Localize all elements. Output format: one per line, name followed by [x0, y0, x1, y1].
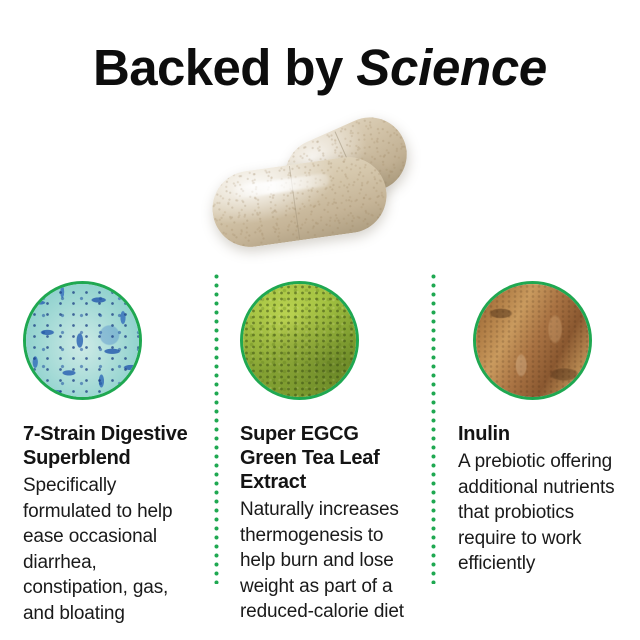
bacteria-micrograph-icon [23, 281, 142, 400]
ingredient-column-inulin: Inulin A prebiotic offering additional n… [458, 281, 630, 577]
green-tea-powder-icon [240, 281, 359, 400]
green-tea-powder-image [243, 284, 356, 397]
ingredient-heading: Super EGCG Green Tea Leaf Extract [240, 422, 420, 494]
ingredient-column-green-tea: Super EGCG Green Tea Leaf Extract Natura… [240, 281, 420, 625]
page-title-main: Backed by [93, 39, 356, 96]
bacteria-image [26, 284, 139, 397]
page-title-accent: Science [356, 39, 547, 96]
capsules-hero-image [195, 112, 445, 252]
capsule-front [208, 152, 392, 252]
ingredient-column-superblend: 7-Strain Digestive Superblend Specifical… [23, 281, 203, 626]
chicory-root-icon [473, 281, 592, 400]
ingredient-heading: 7-Strain Digestive Superblend [23, 422, 203, 470]
ingredient-heading: Inulin [458, 422, 630, 446]
ingredient-description: A prebiotic offering additional nutrient… [458, 449, 630, 577]
page-title: Backed by Science [0, 38, 640, 97]
ingredient-columns: 7-Strain Digestive Superblend Specifical… [0, 281, 640, 601]
ingredient-description: Specifically formulated to help ease occ… [23, 473, 203, 626]
chicory-root-image [476, 284, 589, 397]
ingredient-description: Naturally increases thermogenesis to hel… [240, 497, 420, 625]
